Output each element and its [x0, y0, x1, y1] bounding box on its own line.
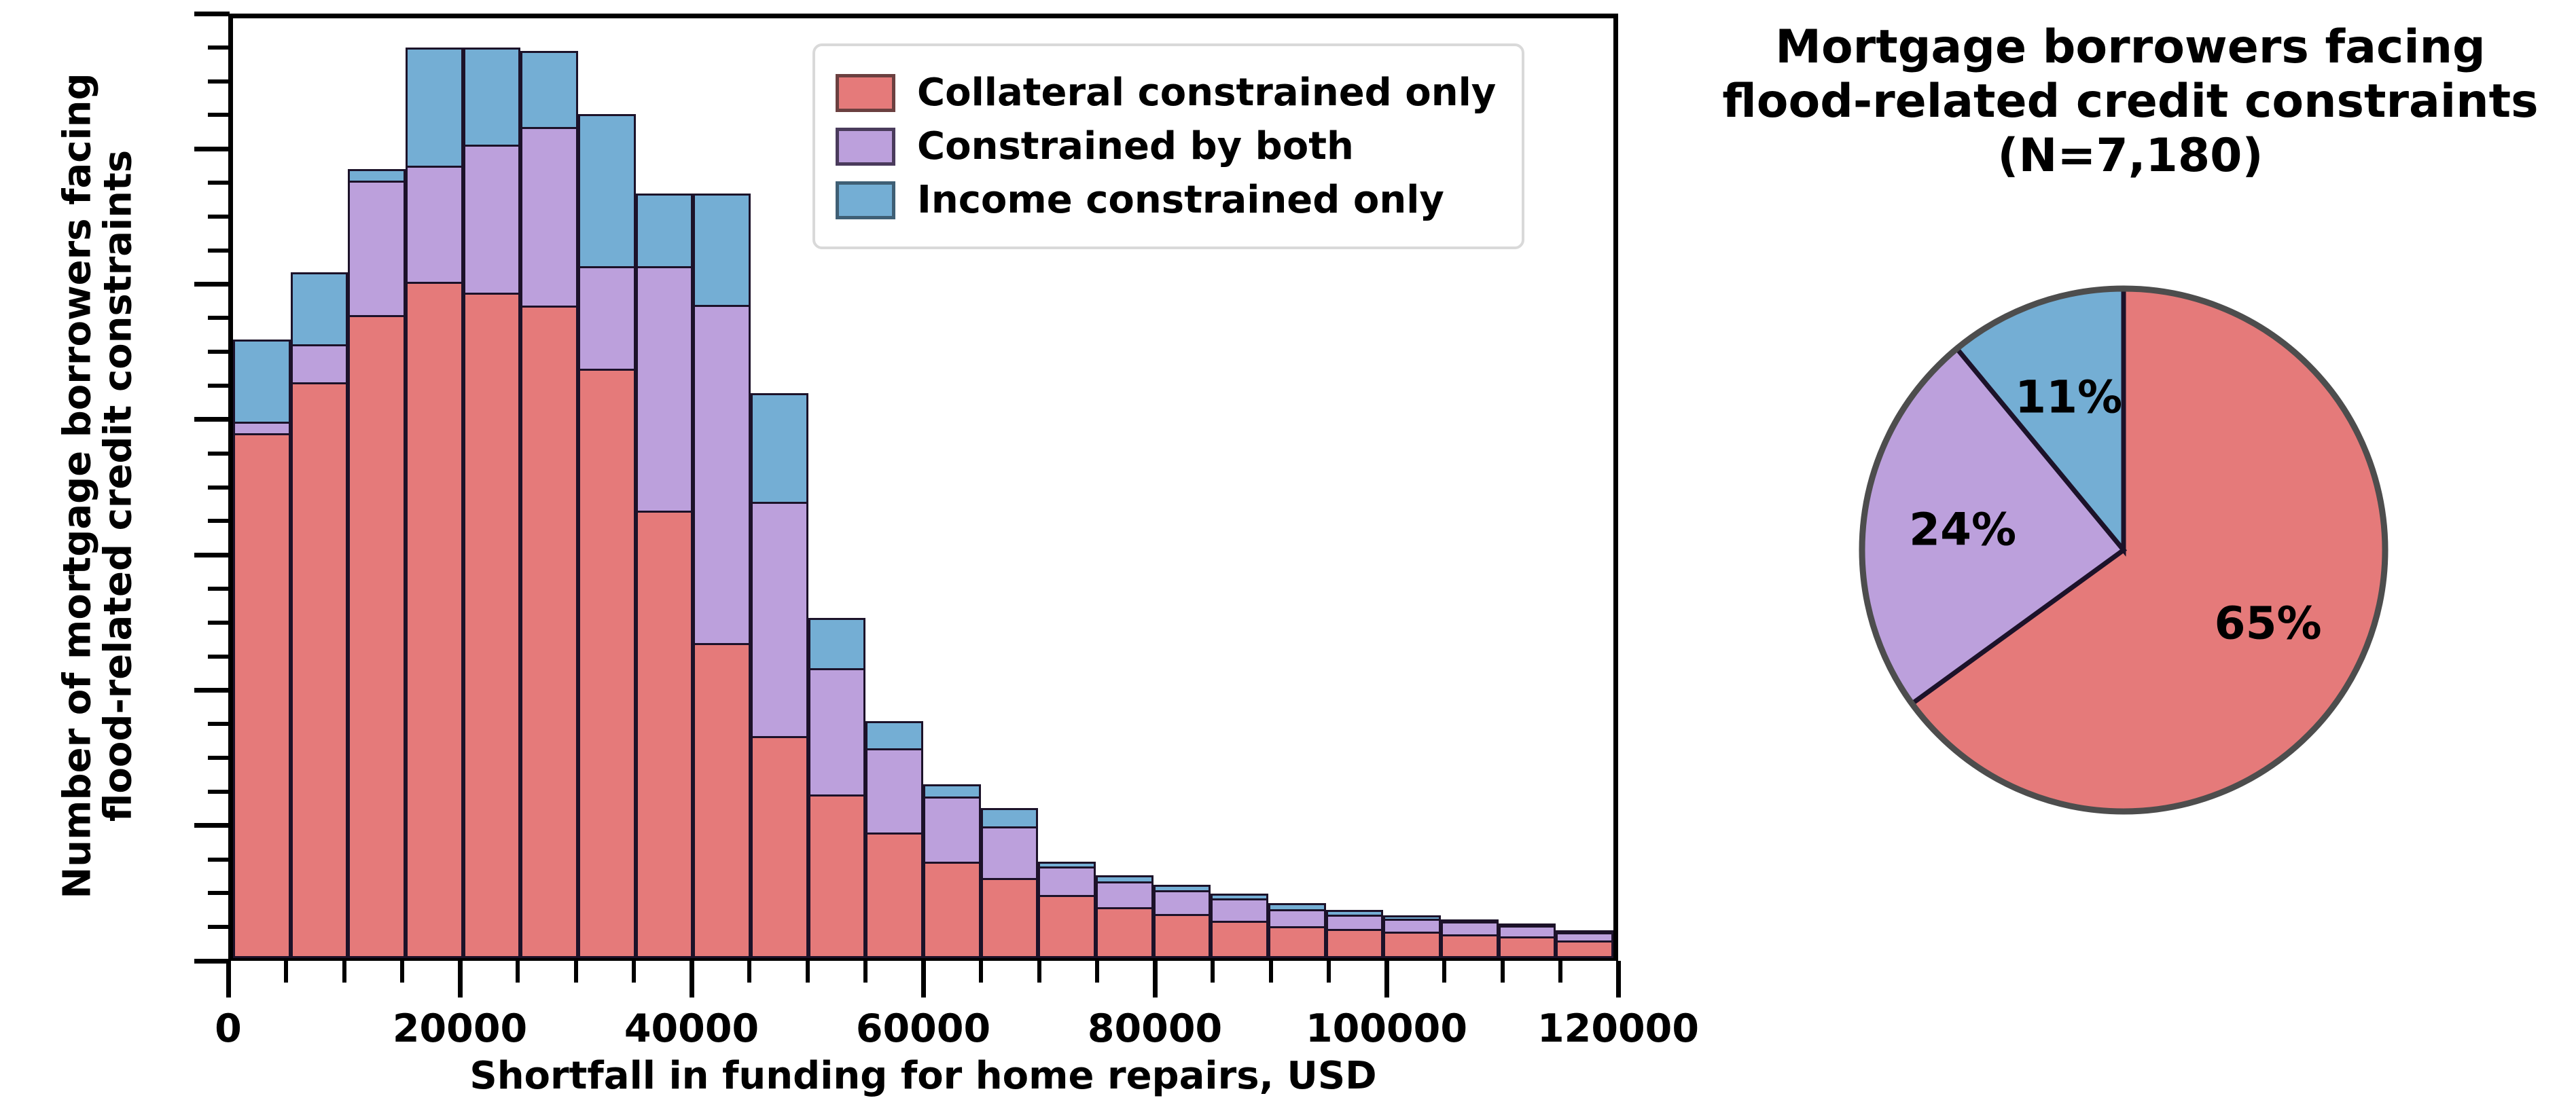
x-minor-tick [342, 961, 346, 983]
histogram-bar [291, 18, 348, 956]
bar-segment-collateral-constrained-only [1153, 914, 1211, 958]
bar-segment-income-constrained-only [463, 48, 521, 147]
legend-label-both: Constrained by both [917, 124, 1354, 168]
x-tick-label: 60000 [856, 1006, 990, 1051]
bar-segment-income-constrained-only [981, 808, 1039, 828]
x-minor-tick [806, 961, 810, 983]
pie-chart: 65%24%11% [1845, 272, 2402, 828]
y-minor-tick [208, 858, 230, 862]
legend-label-collateral: Collateral constrained only [917, 71, 1496, 115]
bar-segment-constrained-by-both [865, 748, 923, 834]
legend-item-income[interactable]: Income constrained only [836, 178, 1496, 222]
figure-root: Number of mortgage borrowers facing floo… [0, 0, 2576, 1093]
bar-segment-income-constrained-only [291, 272, 348, 346]
bar-segment-collateral-constrained-only [865, 832, 923, 958]
x-minor-tick [979, 961, 983, 983]
y-minor-tick [208, 790, 230, 794]
x-tick-label: 20000 [393, 1006, 527, 1051]
bar-segment-collateral-constrained-only [808, 794, 866, 958]
bar-segment-constrained-by-both [693, 305, 751, 645]
bar-segment-collateral-constrained-only [923, 862, 981, 958]
bar-segment-constrained-by-both [291, 344, 348, 384]
y-minor-tick [208, 249, 230, 253]
bar-segment-income-constrained-only [751, 393, 808, 505]
histogram-bar [406, 18, 463, 956]
y-minor-tick [208, 486, 230, 490]
legend-item-collateral[interactable]: Collateral constrained only [836, 71, 1496, 115]
bar-segment-income-constrained-only [406, 48, 463, 168]
legend-swatch-icon-collateral [836, 74, 895, 112]
bar-segment-income-constrained-only [865, 721, 923, 750]
y-minor-tick [208, 45, 230, 50]
pie-title-line2: flood-related credit constraints [1685, 75, 2576, 129]
y-minor-tick [208, 452, 230, 456]
pie-slice-label: 65% [2215, 598, 2322, 650]
bar-segment-collateral-constrained-only [1383, 932, 1441, 958]
x-minor-tick [574, 961, 578, 983]
y-minor-tick [208, 756, 230, 760]
legend-label-income: Income constrained only [917, 178, 1444, 222]
x-tick-mark [1153, 961, 1158, 998]
pie-slice-label: 11% [2015, 371, 2122, 424]
x-minor-tick [1327, 961, 1331, 983]
bar-segment-collateral-constrained-only [463, 293, 521, 959]
histogram-bar [693, 18, 751, 956]
y-minor-tick [208, 587, 230, 591]
y-minor-tick [208, 384, 230, 388]
x-tick-mark [1616, 961, 1621, 998]
y-minor-tick [208, 891, 230, 895]
y-tick-mark [194, 553, 230, 557]
bar-segment-constrained-by-both [981, 826, 1039, 880]
pie-slice-label: 24% [1909, 504, 2016, 556]
x-minor-tick [516, 961, 520, 983]
bar-segment-income-constrained-only [233, 340, 291, 424]
y-minor-tick [208, 215, 230, 219]
x-minor-tick [1095, 961, 1099, 983]
x-minor-tick [1211, 961, 1215, 983]
pie-title-line3: (N=7,180) [1685, 129, 2576, 183]
x-minor-tick [747, 961, 751, 983]
bar-segment-collateral-constrained-only [291, 382, 348, 958]
y-minor-tick [208, 350, 230, 354]
bar-segment-constrained-by-both [923, 797, 981, 864]
x-tick-label: 120000 [1537, 1006, 1699, 1051]
histogram-bar [520, 18, 578, 956]
histogram-bar [233, 18, 291, 956]
legend-swatch-icon-both [836, 128, 895, 166]
y-minor-tick [208, 316, 230, 320]
y-minor-tick [208, 181, 230, 185]
x-minor-tick [1269, 961, 1273, 983]
x-minor-tick [1558, 961, 1562, 983]
pie-title-line1: Mortgage borrowers facing [1685, 20, 2576, 75]
x-minor-tick [1501, 961, 1505, 983]
bar-segment-collateral-constrained-only [406, 282, 463, 958]
y-minor-tick [208, 655, 230, 659]
legend-item-both[interactable]: Constrained by both [836, 124, 1496, 168]
legend-swatch-icon-income [836, 181, 895, 219]
x-tick-mark [921, 961, 926, 998]
histogram-bar [348, 18, 406, 956]
bar-segment-constrained-by-both [1096, 881, 1153, 909]
y-minor-tick [208, 79, 230, 84]
x-minor-tick [632, 961, 636, 983]
x-tick-mark [458, 961, 463, 998]
y-tick-mark [194, 688, 230, 693]
y-tick-mark [194, 282, 230, 287]
bar-segment-collateral-constrained-only [751, 736, 808, 958]
y-tick-mark [194, 417, 230, 422]
bar-segment-collateral-constrained-only [233, 433, 291, 958]
bar-segment-collateral-constrained-only [981, 878, 1039, 958]
histogram-panel: Number of mortgage borrowers facing floo… [0, 0, 1685, 1093]
y-minor-tick [208, 113, 230, 117]
y-axis-title-line2: flood-related credit constraints [99, 10, 139, 961]
y-tick-mark [194, 12, 230, 16]
bar-segment-collateral-constrained-only [1268, 926, 1326, 958]
bar-segment-constrained-by-both [578, 266, 636, 371]
pie-panel: Mortgage borrowers facing flood-related … [1685, 0, 2576, 1093]
bar-segment-income-constrained-only [808, 618, 866, 670]
bar-segment-collateral-constrained-only [1211, 921, 1268, 958]
x-tick-mark [1384, 961, 1389, 998]
bar-segment-collateral-constrained-only [520, 306, 578, 958]
x-tick-label: 100000 [1306, 1006, 1467, 1051]
y-tick-mark [194, 147, 230, 151]
x-tick-label: 40000 [624, 1006, 759, 1051]
x-minor-tick [400, 961, 404, 983]
histogram-bar [578, 18, 636, 956]
bar-segment-income-constrained-only [636, 194, 694, 268]
pie-title: Mortgage borrowers facing flood-related … [1685, 20, 2576, 184]
bar-segment-constrained-by-both [1038, 866, 1096, 897]
y-axis-title-line1: Number of mortgage borrowers facing [58, 10, 99, 961]
y-minor-tick [208, 925, 230, 929]
bar-segment-constrained-by-both [1268, 909, 1326, 928]
bar-segment-income-constrained-only [693, 194, 751, 308]
histogram-bar [636, 18, 694, 956]
bar-segment-collateral-constrained-only [1556, 940, 1613, 958]
bar-segment-constrained-by-both [1153, 890, 1211, 915]
y-minor-tick [208, 621, 230, 625]
bar-segment-constrained-by-both [1211, 898, 1268, 923]
x-axis-title: Shortfall in funding for home repairs, U… [228, 1054, 1618, 1098]
bar-segment-constrained-by-both [636, 266, 694, 513]
legend: Collateral constrained only Constrained … [812, 43, 1524, 249]
y-tick-mark [194, 959, 230, 964]
x-tick-mark [226, 961, 231, 998]
bar-segment-constrained-by-both [520, 127, 578, 308]
y-axis-title: Number of mortgage borrowers facing floo… [58, 10, 140, 961]
bar-segment-constrained-by-both [751, 502, 808, 737]
bar-segment-collateral-constrained-only [636, 511, 694, 958]
histogram-bar [751, 18, 808, 956]
bar-segment-collateral-constrained-only [348, 315, 406, 958]
histogram-bar [463, 18, 521, 956]
bar-segment-constrained-by-both [406, 166, 463, 284]
y-minor-tick [208, 722, 230, 726]
x-tick-label: 80000 [1088, 1006, 1222, 1051]
bar-segment-income-constrained-only [520, 51, 578, 128]
histogram-bar [1556, 18, 1613, 956]
x-minor-tick [1442, 961, 1446, 983]
bar-segment-constrained-by-both [808, 668, 866, 797]
bar-segment-collateral-constrained-only [1038, 895, 1096, 958]
bar-segment-collateral-constrained-only [693, 643, 751, 958]
bar-segment-collateral-constrained-only [578, 369, 636, 958]
x-tick-mark [690, 961, 694, 998]
bar-segment-collateral-constrained-only [1441, 934, 1499, 959]
bar-segment-income-constrained-only [578, 114, 636, 268]
x-minor-tick [863, 961, 867, 983]
bar-segment-collateral-constrained-only [1096, 907, 1153, 958]
bar-segment-constrained-by-both [463, 145, 521, 295]
x-tick-label: 0 [215, 1006, 242, 1051]
bar-segment-collateral-constrained-only [1499, 936, 1556, 958]
bar-segment-collateral-constrained-only [1326, 929, 1384, 958]
y-minor-tick [208, 519, 230, 523]
x-minor-tick [284, 961, 288, 983]
x-minor-tick [1037, 961, 1041, 983]
y-tick-mark [194, 823, 230, 828]
bar-segment-constrained-by-both [348, 181, 406, 317]
